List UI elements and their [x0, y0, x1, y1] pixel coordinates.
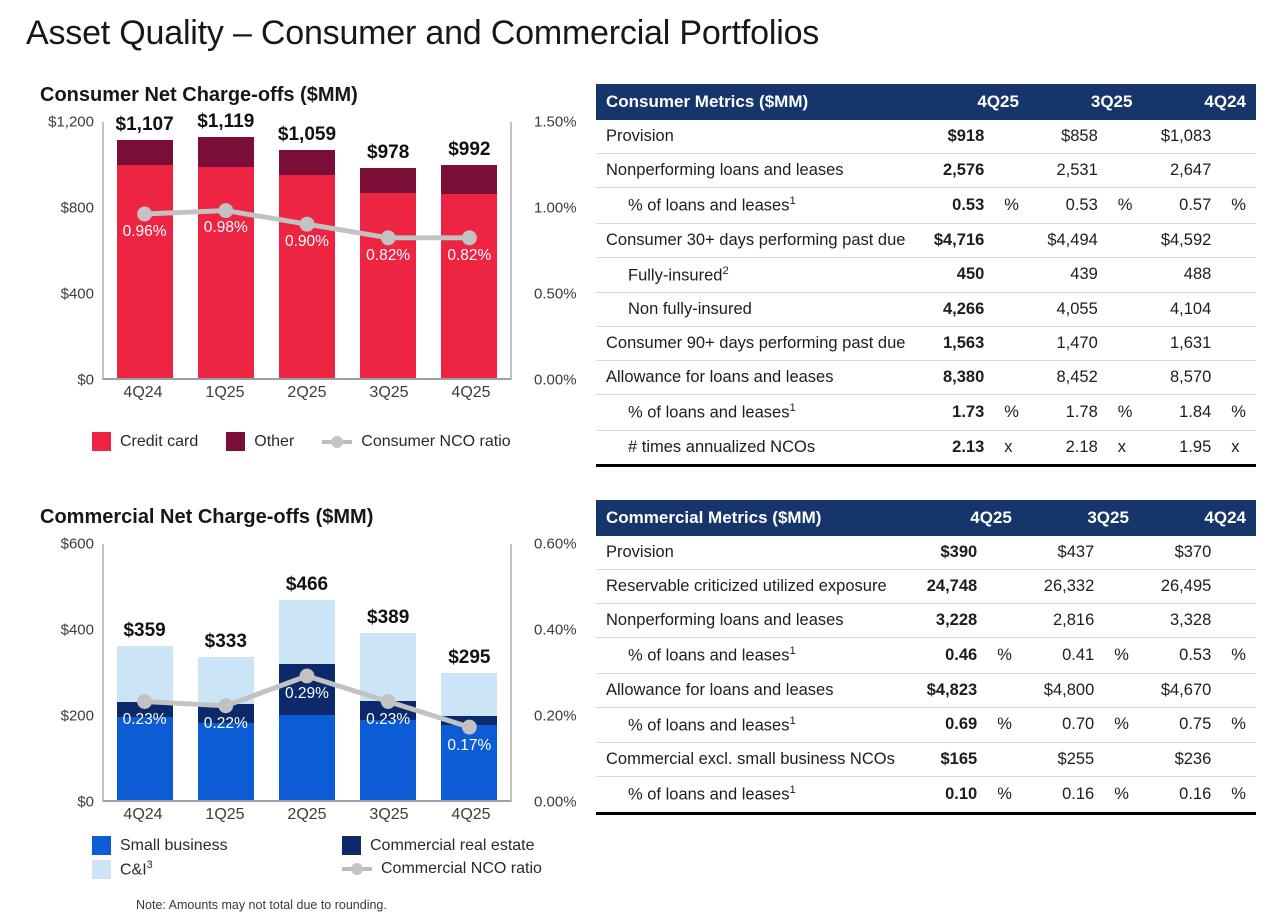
row-unit — [1221, 154, 1256, 188]
row-unit — [994, 257, 1029, 293]
consumer-x-axis-labels: 4Q241Q252Q253Q254Q25 — [102, 384, 512, 402]
row-unit: % — [987, 638, 1022, 674]
bar-column: $1,1070.96% — [117, 122, 173, 378]
consumer-plot: $1,1070.96%$1,1190.98%$1,0590.90%$9780.8… — [102, 122, 512, 380]
x-tick-label: 4Q25 — [443, 806, 499, 824]
commercial-chart-legend: Small businessCommercial real estateC&I3… — [92, 836, 602, 879]
row-label: Nonperforming loans and leases — [596, 154, 915, 188]
bar-total-label: $978 — [367, 142, 409, 164]
row-label: Provision — [596, 120, 915, 154]
row-unit — [1108, 361, 1143, 395]
y-tick-label: $1,200 — [48, 114, 94, 131]
legend-label: Other — [254, 433, 294, 451]
row-label: Consumer 30+ days performing past due — [596, 223, 915, 257]
consumer-y-axis-left: $0$400$800$1,200 — [40, 122, 100, 390]
row-value: $4,494 — [1029, 223, 1108, 257]
row-value: 4,055 — [1029, 293, 1108, 327]
y2-tick-label: 0.20% — [534, 708, 577, 725]
bar-column: $4660.29% — [279, 544, 335, 800]
y2-tick-label: 1.50% — [534, 114, 577, 131]
row-unit — [1104, 673, 1139, 707]
row-value: 2,647 — [1142, 154, 1221, 188]
row-unit: % — [1108, 188, 1143, 224]
commercial-col-4Q25: 4Q25 — [905, 500, 1022, 536]
row-unit: % — [1108, 395, 1143, 431]
table-row: % of loans and leases11.73%1.78%1.84% — [596, 395, 1256, 431]
legend-swatch-icon — [92, 432, 111, 451]
row-unit — [987, 536, 1022, 570]
commercial-x-axis-labels: 4Q241Q252Q253Q254Q25 — [102, 806, 512, 824]
row-unit — [1104, 536, 1139, 570]
commercial-plot: $3590.23%$3330.22%$4660.29%$3890.23%$295… — [102, 544, 512, 802]
row-label: Allowance for loans and leases — [596, 361, 915, 395]
row-label: Fully-insured2 — [596, 257, 915, 293]
row-unit: % — [987, 707, 1022, 743]
commercial-metrics-table: Commercial Metrics ($MM) 4Q25 3Q25 4Q24 … — [596, 500, 1256, 815]
row-value: $918 — [915, 120, 994, 154]
row-unit — [987, 604, 1022, 638]
row-unit: x — [1221, 430, 1256, 465]
commercial-table-body: Provision$390$437$370Reservable criticiz… — [596, 536, 1256, 813]
legend-label: Consumer NCO ratio — [361, 433, 510, 451]
legend-label: Commercial real estate — [370, 837, 535, 855]
nco-ratio-label: 0.22% — [204, 715, 248, 733]
y-tick-label: $800 — [61, 200, 94, 217]
table-header-row: Consumer Metrics ($MM) 4Q25 3Q25 4Q24 — [596, 84, 1256, 120]
row-unit: % — [1104, 707, 1139, 743]
table-row: Provision$918$858$1,083 — [596, 120, 1256, 154]
row-unit: % — [1221, 777, 1256, 814]
row-value: $4,800 — [1022, 673, 1104, 707]
row-unit — [1221, 361, 1256, 395]
bar-segment-other — [360, 168, 416, 193]
nco-ratio-label: 0.29% — [285, 685, 329, 703]
commercial-net-charge-offs-chart: Commercial Net Charge-offs ($MM) $0$200$… — [40, 506, 580, 886]
footnote-marker: 1 — [789, 645, 795, 657]
row-value: 1,563 — [915, 327, 994, 361]
row-unit — [987, 673, 1022, 707]
row-unit — [1221, 257, 1256, 293]
bar-total-label: $359 — [123, 620, 165, 642]
bar-total-label: $295 — [448, 647, 490, 669]
table-row: # times annualized NCOs2.13x2.18x1.95x — [596, 430, 1256, 465]
table-row: Allowance for loans and leases$4,823$4,8… — [596, 673, 1256, 707]
bar-column: $9780.82% — [360, 122, 416, 378]
legend-label: C&I3 — [120, 859, 153, 879]
row-unit — [1108, 257, 1143, 293]
row-value: 1,470 — [1029, 327, 1108, 361]
bar-segment-c-i — [360, 633, 416, 701]
bar-column: $3590.23% — [117, 544, 173, 800]
x-tick-label: 4Q25 — [443, 384, 499, 402]
row-unit: % — [1221, 395, 1256, 431]
footnote-marker: 1 — [789, 715, 795, 727]
row-label: Provision — [596, 536, 905, 570]
row-unit — [1104, 743, 1139, 777]
row-value: $4,716 — [915, 223, 994, 257]
commercial-chart-plot-area: $0$200$400$600 0.00%0.20%0.40%0.60% $359… — [40, 544, 580, 812]
row-value: 0.41 — [1022, 638, 1104, 674]
row-value: 2,531 — [1029, 154, 1108, 188]
row-value: $4,670 — [1139, 673, 1221, 707]
nco-ratio-label: 0.23% — [123, 711, 167, 729]
row-value: 8,452 — [1029, 361, 1108, 395]
row-unit — [987, 570, 1022, 604]
legend-item-commercial-nco-ratio[interactable]: Commercial NCO ratio — [342, 859, 602, 879]
row-value: $858 — [1029, 120, 1108, 154]
table-row: Allowance for loans and leases8,3808,452… — [596, 361, 1256, 395]
y2-tick-label: 0.40% — [534, 622, 577, 639]
row-value: 26,495 — [1139, 570, 1221, 604]
legend-swatch-icon — [92, 836, 111, 855]
row-label: % of loans and leases1 — [596, 638, 905, 674]
commercial-table-title: Commercial Metrics ($MM) — [596, 500, 905, 536]
row-value: $437 — [1022, 536, 1104, 570]
footnote-note: Note: Amounts may not total due to round… — [136, 898, 387, 912]
commercial-col-4Q24: 4Q24 — [1139, 500, 1256, 536]
row-value: 1,631 — [1142, 327, 1221, 361]
bar-segment-small-business — [360, 720, 416, 800]
row-value: 2,576 — [915, 154, 994, 188]
row-unit — [1221, 673, 1256, 707]
row-unit — [1221, 743, 1256, 777]
bar-column: $2950.17% — [441, 544, 497, 800]
table-row: Fully-insured2450439488 — [596, 257, 1256, 293]
consumer-chart-heading: Consumer Net Charge-offs ($MM) — [40, 84, 580, 107]
nco-ratio-label: 0.98% — [204, 219, 248, 237]
table-row: % of loans and leases10.53%0.53%0.57% — [596, 188, 1256, 224]
row-unit: % — [1221, 638, 1256, 674]
row-value: $4,592 — [1142, 223, 1221, 257]
bar-segment-other — [198, 137, 254, 166]
row-unit — [994, 361, 1029, 395]
row-unit — [1104, 570, 1139, 604]
row-value: 3,228 — [905, 604, 987, 638]
bar-column: $1,0590.90% — [279, 122, 335, 378]
bar-segment-small-business — [279, 715, 335, 800]
consumer-bar-group: $1,1070.96%$1,1190.98%$1,0590.90%$9780.8… — [104, 122, 510, 378]
row-unit — [1104, 604, 1139, 638]
row-unit — [1221, 536, 1256, 570]
bar-segment-c-i — [441, 673, 497, 716]
nco-ratio-label: 0.17% — [447, 737, 491, 755]
row-unit — [1221, 327, 1256, 361]
row-unit: % — [994, 395, 1029, 431]
consumer-chart-plot-area: $0$400$800$1,200 0.00%0.50%1.00%1.50% $1… — [40, 122, 580, 390]
row-value: 488 — [1142, 257, 1221, 293]
bar-column: $1,1190.98% — [198, 122, 254, 378]
footnote-marker: 1 — [789, 402, 795, 414]
legend-swatch-icon — [92, 860, 111, 879]
commercial-bar-group: $3590.23%$3330.22%$4660.29%$3890.23%$295… — [104, 544, 510, 800]
row-unit: % — [1221, 188, 1256, 224]
bar-segment-c-i — [279, 600, 335, 664]
legend-label: Credit card — [120, 433, 198, 451]
row-unit — [1221, 604, 1256, 638]
row-unit — [994, 293, 1029, 327]
row-value: 0.53 — [1139, 638, 1221, 674]
consumer-col-4Q24: 4Q24 — [1142, 84, 1256, 120]
legend-line-marker-icon — [322, 435, 352, 449]
row-value: 2.13 — [915, 430, 994, 465]
row-unit — [994, 120, 1029, 154]
footnote-marker: 1 — [789, 195, 795, 207]
y-tick-label: $0 — [77, 794, 94, 811]
y2-tick-label: 1.00% — [534, 200, 577, 217]
y-tick-label: $400 — [61, 622, 94, 639]
row-value: 8,380 — [915, 361, 994, 395]
row-unit — [1221, 120, 1256, 154]
consumer-col-3Q25: 3Q25 — [1029, 84, 1143, 120]
bar-segment-other — [279, 150, 335, 175]
table-row: Consumer 30+ days performing past due$4,… — [596, 223, 1256, 257]
consumer-col-4Q25: 4Q25 — [915, 84, 1029, 120]
row-unit — [1108, 154, 1143, 188]
row-label: Reservable criticized utilized exposure — [596, 570, 905, 604]
row-label: Nonperforming loans and leases — [596, 604, 905, 638]
row-unit: % — [1221, 707, 1256, 743]
commercial-table-header: Commercial Metrics ($MM) 4Q25 3Q25 4Q24 — [596, 500, 1256, 536]
bar-total-label: $333 — [205, 631, 247, 653]
row-unit — [987, 743, 1022, 777]
row-unit: x — [1108, 430, 1143, 465]
nco-ratio-label: 0.90% — [285, 233, 329, 251]
bar-segment-credit-card — [117, 165, 173, 378]
row-label: Non fully-insured — [596, 293, 915, 327]
row-value: 2.18 — [1029, 430, 1108, 465]
table-row: Commercial excl. small business NCOs$165… — [596, 743, 1256, 777]
row-label: % of loans and leases1 — [596, 188, 915, 224]
legend-item-other[interactable]: Other — [226, 432, 294, 451]
table-row: Provision$390$437$370 — [596, 536, 1256, 570]
row-value: 0.57 — [1142, 188, 1221, 224]
table-row: % of loans and leases10.46%0.41%0.53% — [596, 638, 1256, 674]
row-value: 3,328 — [1139, 604, 1221, 638]
bar-segment-other — [441, 165, 497, 194]
consumer-y-axis-right: 0.00%0.50%1.00%1.50% — [520, 122, 580, 390]
row-value: 2,816 — [1022, 604, 1104, 638]
row-value: 450 — [915, 257, 994, 293]
row-label: % of loans and leases1 — [596, 707, 905, 743]
y2-tick-label: 0.00% — [534, 372, 577, 389]
row-value: 1.78 — [1029, 395, 1108, 431]
x-tick-label: 3Q25 — [361, 384, 417, 402]
x-tick-label: 2Q25 — [279, 806, 335, 824]
bar-segment-other — [117, 140, 173, 165]
bar-total-label: $1,107 — [116, 114, 174, 136]
x-tick-label: 4Q24 — [115, 806, 171, 824]
row-label: Consumer 90+ days performing past due — [596, 327, 915, 361]
bar-segment-c-i — [117, 646, 173, 702]
row-unit: x — [994, 430, 1029, 465]
bar-total-label: $466 — [286, 574, 328, 596]
row-value: 1.73 — [915, 395, 994, 431]
bar-column: $3890.23% — [360, 544, 416, 800]
row-value: 0.46 — [905, 638, 987, 674]
bar-segment-credit-card — [198, 167, 254, 378]
bar-column: $3330.22% — [198, 544, 254, 800]
row-unit — [1221, 570, 1256, 604]
row-unit — [994, 223, 1029, 257]
table-row: % of loans and leases10.10%0.16%0.16% — [596, 777, 1256, 814]
row-label: # times annualized NCOs — [596, 430, 915, 465]
y2-tick-label: 0.50% — [534, 286, 577, 303]
bar-segment-credit-card — [360, 193, 416, 378]
table-row: Non fully-insured4,2664,0554,104 — [596, 293, 1256, 327]
row-value: 0.53 — [915, 188, 994, 224]
row-value: 0.53 — [1029, 188, 1108, 224]
bar-segment-c-i — [198, 657, 254, 704]
footnote-marker: 2 — [722, 265, 728, 277]
row-value: 0.16 — [1022, 777, 1104, 814]
row-label: % of loans and leases1 — [596, 395, 915, 431]
legend-item-commercial-real-estate[interactable]: Commercial real estate — [342, 836, 602, 855]
table-row: Nonperforming loans and leases2,5762,531… — [596, 154, 1256, 188]
consumer-table-header: Consumer Metrics ($MM) 4Q25 3Q25 4Q24 — [596, 84, 1256, 120]
x-tick-label: 3Q25 — [361, 806, 417, 824]
row-unit — [1221, 293, 1256, 327]
row-unit — [994, 327, 1029, 361]
y2-tick-label: 0.00% — [534, 794, 577, 811]
bar-total-label: $1,059 — [278, 124, 336, 146]
row-unit — [1108, 223, 1143, 257]
legend-item-c-i[interactable]: C&I3 — [92, 859, 342, 879]
row-label: Commercial excl. small business NCOs — [596, 743, 905, 777]
table-row: % of loans and leases10.69%0.70%0.75% — [596, 707, 1256, 743]
row-value: 4,104 — [1142, 293, 1221, 327]
y-tick-label: $0 — [77, 372, 94, 389]
row-value: $255 — [1022, 743, 1104, 777]
nco-ratio-label: 0.96% — [123, 223, 167, 241]
row-value: 1.84 — [1142, 395, 1221, 431]
row-value: $4,823 — [905, 673, 987, 707]
table-row: Consumer 90+ days performing past due1,5… — [596, 327, 1256, 361]
row-value: 4,266 — [915, 293, 994, 327]
row-value: 0.69 — [905, 707, 987, 743]
legend-superscript: 3 — [147, 859, 153, 871]
commercial-chart-heading: Commercial Net Charge-offs ($MM) — [40, 506, 580, 529]
bar-total-label: $992 — [448, 139, 490, 161]
y2-tick-label: 0.60% — [534, 536, 577, 553]
row-unit — [1221, 223, 1256, 257]
consumer-table-body: Provision$918$858$1,083Nonperforming loa… — [596, 120, 1256, 465]
legend-swatch-icon — [226, 432, 245, 451]
row-label: % of loans and leases1 — [596, 777, 905, 814]
footnote-marker: 1 — [789, 784, 795, 796]
bar-column: $9920.82% — [441, 122, 497, 378]
commercial-y-axis-right: 0.00%0.20%0.40%0.60% — [520, 544, 580, 812]
bar-segment-commercial-real-estate — [441, 716, 497, 725]
nco-ratio-label: 0.82% — [366, 247, 410, 265]
x-tick-label: 4Q24 — [115, 384, 171, 402]
legend-item-credit-card[interactable]: Credit card — [92, 432, 198, 451]
row-value: 0.16 — [1139, 777, 1221, 814]
bar-segment-credit-card — [441, 194, 497, 378]
row-unit — [1108, 120, 1143, 154]
commercial-y-axis-left: $0$200$400$600 — [40, 544, 100, 812]
row-unit: % — [1104, 638, 1139, 674]
row-unit: % — [1104, 777, 1139, 814]
row-value: 439 — [1029, 257, 1108, 293]
consumer-chart-legend: Credit cardOtherConsumer NCO ratio — [92, 432, 592, 451]
nco-ratio-label: 0.82% — [447, 247, 491, 265]
consumer-net-charge-offs-chart: Consumer Net Charge-offs ($MM) $0$400$80… — [40, 84, 580, 464]
row-unit: % — [994, 188, 1029, 224]
row-value: $1,083 — [1142, 120, 1221, 154]
y-tick-label: $200 — [61, 708, 94, 725]
consumer-table-title: Consumer Metrics ($MM) — [596, 84, 915, 120]
row-unit — [994, 154, 1029, 188]
row-value: 26,332 — [1022, 570, 1104, 604]
nco-ratio-label: 0.23% — [366, 711, 410, 729]
x-tick-label: 1Q25 — [197, 806, 253, 824]
row-label: Allowance for loans and leases — [596, 673, 905, 707]
row-unit: % — [987, 777, 1022, 814]
bar-segment-small-business — [198, 723, 254, 800]
table-row: Nonperforming loans and leases3,2282,816… — [596, 604, 1256, 638]
row-value: 1.95 — [1142, 430, 1221, 465]
x-tick-label: 2Q25 — [279, 384, 335, 402]
row-value: $165 — [905, 743, 987, 777]
legend-item-consumer-nco-ratio[interactable]: Consumer NCO ratio — [322, 432, 510, 451]
commercial-col-3Q25: 3Q25 — [1022, 500, 1139, 536]
y-tick-label: $400 — [61, 286, 94, 303]
legend-label: Small business — [120, 837, 228, 855]
bar-total-label: $389 — [367, 607, 409, 629]
legend-swatch-icon — [342, 836, 361, 855]
bar-segment-credit-card — [279, 175, 335, 378]
row-value: 0.70 — [1022, 707, 1104, 743]
bar-total-label: $1,119 — [197, 111, 254, 133]
y-tick-label: $600 — [61, 536, 94, 553]
x-tick-label: 1Q25 — [197, 384, 253, 402]
row-value: $370 — [1139, 536, 1221, 570]
page-title: Asset Quality – Consumer and Commercial … — [26, 14, 819, 53]
legend-item-small-business[interactable]: Small business — [92, 836, 342, 855]
table-row: Reservable criticized utilized exposure2… — [596, 570, 1256, 604]
table-header-row: Commercial Metrics ($MM) 4Q25 3Q25 4Q24 — [596, 500, 1256, 536]
row-unit — [1108, 293, 1143, 327]
row-value: 0.75 — [1139, 707, 1221, 743]
consumer-metrics-table: Consumer Metrics ($MM) 4Q25 3Q25 4Q24 Pr… — [596, 84, 1256, 467]
row-value: $236 — [1139, 743, 1221, 777]
row-value: 0.10 — [905, 777, 987, 814]
legend-line-marker-icon — [342, 862, 372, 876]
row-value: 8,570 — [1142, 361, 1221, 395]
row-value: $390 — [905, 536, 987, 570]
row-value: 24,748 — [905, 570, 987, 604]
row-unit — [1108, 327, 1143, 361]
legend-label: Commercial NCO ratio — [381, 860, 542, 878]
